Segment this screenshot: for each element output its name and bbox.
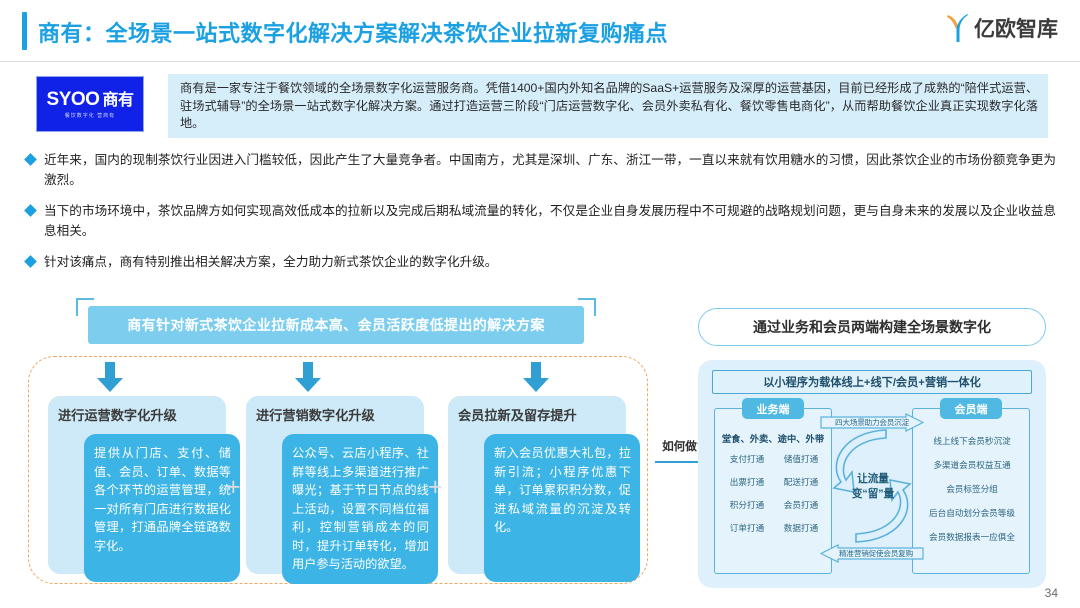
solution-banner-label: 商有针对新式茶饮企业拉新成本高、会员活跃度低提出的解决方案 bbox=[127, 315, 545, 335]
solution-card[interactable]: 进行运营数字化升级 提供从门店、支付、储值、会员、订单、数据等各个环节的运营管理… bbox=[48, 396, 226, 574]
solution-card-body: 公众号、云店小程序、社群等线上多渠道进行推广曝光；基于节日节点的线上活动，设置不… bbox=[282, 434, 438, 584]
business-item: 订单打通 bbox=[721, 522, 773, 534]
business-item: 积分打通 bbox=[721, 499, 773, 511]
member-item: 后台自动划分会员等级 bbox=[929, 507, 1015, 519]
bullet-text: 当下的市场环境中，茶饮品牌方如何实现高效低成本的拉新以及完成后期私域流量的转化，… bbox=[44, 201, 1056, 241]
solution-card-text: 提供从门店、支付、储值、会员、订单、数据等各个环节的运营管理，统一对所有门店进行… bbox=[94, 444, 231, 555]
right-diagram-panel: 以小程序为载体线上+线下/会员+营销一体化 业务端 堂食、外卖、途中、外带 支付… bbox=[698, 360, 1046, 588]
solution-card-text: 公众号、云店小程序、社群等线上多渠道进行推广曝光；基于节日节点的线上活动，设置不… bbox=[292, 444, 429, 574]
company-intro-text: 商有是一家专注于餐饮领域的全场景数字化运营服务商。凭借1400+国内外知名品牌的… bbox=[180, 80, 1038, 133]
member-item: 会员标签分组 bbox=[946, 483, 998, 495]
solution-card-title: 会员拉新及留存提升 bbox=[458, 405, 626, 424]
title-accent-bar bbox=[22, 12, 27, 50]
bullet-text: 针对该痛点，商有特别推出相关解决方案，全力助力新式茶饮企业的数字化升级。 bbox=[44, 252, 497, 272]
right-banner-label: 通过业务和会员两端构建全场景数字化 bbox=[753, 317, 991, 337]
top-flow-arrow-label: 四大场景助力会员沉淀 bbox=[820, 413, 924, 432]
company-intro-box: 商有是一家专注于餐饮领域的全场景数字化运营服务商。凭借1400+国内外知名品牌的… bbox=[168, 74, 1048, 138]
business-end-chip: 业务端 bbox=[742, 398, 804, 419]
syoo-logo-main: SYOO商有 bbox=[47, 90, 134, 109]
intro-row: SYOO商有 餐饮数字化 营商有 商有是一家专注于餐饮领域的全场景数字化运营服务… bbox=[36, 74, 1048, 140]
yiou-leaf-icon bbox=[945, 12, 971, 44]
member-end-chip: 会员端 bbox=[940, 398, 1002, 419]
business-end-label: 业务端 bbox=[757, 401, 790, 417]
bullet-text: 近年来，国内的现制茶饮行业因进入门槛较低，因此产生了大量竞争者。中国南方，尤其是… bbox=[44, 150, 1056, 190]
bullet-item: 近年来，国内的现制茶饮行业因进入门槛较低，因此产生了大量竞争者。中国南方，尤其是… bbox=[26, 150, 1056, 190]
cycle-center-line1: 让流量 bbox=[838, 472, 908, 487]
member-item: 会员数据报表一应俱全 bbox=[929, 531, 1015, 543]
solution-card-title: 进行运营数字化升级 bbox=[58, 405, 226, 424]
brand-logo: 亿欧智库 bbox=[945, 12, 1058, 44]
page-header: 商有：全场景一站式数字化解决方案解决茶饮企业拉新复购痛点 亿欧智库 bbox=[0, 0, 1080, 62]
diamond-bullet-icon bbox=[24, 153, 37, 166]
solution-card[interactable]: 进行营销数字化升级 公众号、云店小程序、社群等线上多渠道进行推广曝光；基于节日节… bbox=[246, 396, 424, 574]
business-item: 会员打通 bbox=[775, 499, 827, 511]
arrow-down-icon bbox=[97, 362, 123, 392]
business-item-grid: 支付打通 储值打通 出票打通 配送打通 积分打通 会员打通 订单打通 数据打通 bbox=[721, 453, 827, 534]
diamond-bullet-icon bbox=[24, 255, 37, 268]
page-title: 商有：全场景一站式数字化解决方案解决茶饮企业拉新复购痛点 bbox=[38, 16, 668, 48]
solution-card[interactable]: 会员拉新及留存提升 新入会员优惠大礼包，拉新引流；小程序优惠下单，订单累积积分数… bbox=[448, 396, 626, 574]
solution-card-body: 提供从门店、支付、储值、会员、订单、数据等各个环节的运营管理，统一对所有门店进行… bbox=[84, 434, 240, 582]
member-item: 多渠道会员权益互通 bbox=[933, 459, 1010, 471]
syoo-company-logo: SYOO商有 餐饮数字化 营商有 bbox=[36, 76, 144, 132]
business-end-box: 业务端 堂食、外卖、途中、外带 支付打通 储值打通 出票打通 配送打通 积分打通… bbox=[714, 408, 832, 574]
business-item: 出票打通 bbox=[721, 476, 773, 488]
business-item: 数据打通 bbox=[775, 522, 827, 534]
bullet-list: 近年来，国内的现制茶饮行业因进入门槛较低，因此产生了大量竞争者。中国南方，尤其是… bbox=[26, 150, 1056, 283]
solution-card-body: 新入会员优惠大礼包，拉新引流；小程序优惠下单，订单累积积分数，促进私域流量的沉淀… bbox=[484, 434, 640, 582]
member-item: 线上线下会员秒沉淀 bbox=[933, 435, 1010, 447]
business-item: 配送打通 bbox=[775, 476, 827, 488]
solution-banner: 商有针对新式茶饮企业拉新成本高、会员活跃度低提出的解决方案 bbox=[88, 306, 584, 344]
bottom-flow-arrow: 精准营销促使会员复购 bbox=[820, 544, 924, 563]
member-item-list: 线上线下会员秒沉淀 多渠道会员权益互通 会员标签分组 后台自动划分会员等级 会员… bbox=[917, 435, 1027, 543]
plus-separator-1: + bbox=[226, 473, 241, 502]
arrow-down-icon bbox=[523, 362, 549, 392]
business-scenes: 堂食、外卖、途中、外带 bbox=[715, 431, 831, 445]
slide-page: 商有：全场景一站式数字化解决方案解决茶饮企业拉新复购痛点 亿欧智库 SYOO商有… bbox=[0, 0, 1080, 608]
bullet-item: 当下的市场环境中，茶饮品牌方如何实现高效低成本的拉新以及完成后期私域流量的转化，… bbox=[26, 201, 1056, 241]
right-banner: 通过业务和会员两端构建全场景数字化 bbox=[698, 308, 1046, 346]
solution-card-title: 进行营销数字化升级 bbox=[256, 405, 424, 424]
right-subtitle-label: 以小程序为载体线上+线下/会员+营销一体化 bbox=[763, 374, 981, 390]
syoo-logo-tagline: 餐饮数字化 营商有 bbox=[65, 112, 115, 119]
syoo-logo-latin: SYOO bbox=[47, 89, 100, 110]
bullet-item: 针对该痛点，商有特别推出相关解决方案，全力助力新式茶饮企业的数字化升级。 bbox=[26, 252, 1056, 272]
right-subtitle-box: 以小程序为载体线上+线下/会员+营销一体化 bbox=[712, 370, 1032, 394]
diamond-bullet-icon bbox=[24, 204, 37, 217]
cycle-center-line2: 变“留”量 bbox=[838, 487, 908, 502]
member-end-label: 会员端 bbox=[955, 401, 988, 417]
plus-separator-2: + bbox=[428, 473, 443, 502]
cycle-center-label: 让流量 变“留”量 bbox=[838, 472, 908, 502]
page-number: 34 bbox=[1045, 586, 1058, 600]
top-flow-arrow: 四大场景助力会员沉淀 bbox=[820, 413, 924, 432]
arrow-down-icon bbox=[295, 362, 321, 392]
bottom-flow-arrow-label: 精准营销促使会员复购 bbox=[820, 544, 924, 563]
syoo-logo-cn: 商有 bbox=[102, 92, 133, 109]
business-item: 支付打通 bbox=[721, 453, 773, 465]
business-item: 储值打通 bbox=[775, 453, 827, 465]
brand-name: 亿欧智库 bbox=[974, 13, 1058, 43]
solution-card-text: 新入会员优惠大礼包，拉新引流；小程序优惠下单，订单累积积分数，促进私域流量的沉淀… bbox=[494, 444, 631, 537]
member-end-box: 会员端 线上线下会员秒沉淀 多渠道会员权益互通 会员标签分组 后台自动划分会员等… bbox=[912, 408, 1030, 574]
